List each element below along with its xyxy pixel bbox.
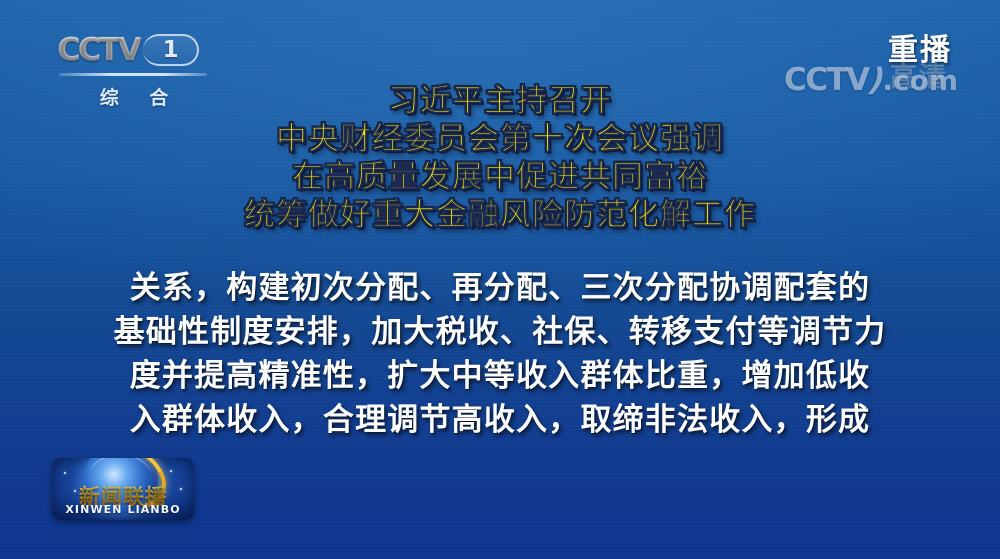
subtitle-line: 入群体收入，合理调节高收入，取缔非法收入，形成: [0, 398, 1000, 442]
subtitle-line: 度并提高精准性，扩大中等收入群体比重，增加低收: [0, 354, 1000, 398]
news-subtitle-text: 关系，构建初次分配、再分配、三次分配协调配套的 基础性制度安排，加大税收、社保、…: [0, 266, 1000, 442]
headline-line: 统筹做好重大金融风险防范化解工作: [0, 196, 1000, 234]
headline-line: 习近平主持召开: [0, 82, 1000, 120]
broadcast-screen: CCTV 1 综 合 重播 高清 CCTV).com 习近平主持召开 中央财经委…: [0, 0, 1000, 559]
news-headline: 习近平主持召开 中央财经委员会第十次会议强调 在高质量发展中促进共同富裕 统筹做…: [0, 82, 1000, 234]
subtitle-line: 基础性制度安排，加大税收、社保、转移支付等调节力: [0, 310, 1000, 354]
sparkle-icon: [170, 470, 172, 472]
cctv-logo-row: CCTV 1: [58, 33, 218, 67]
headline-line: 在高质量发展中促进共同富裕: [0, 158, 1000, 196]
program-name-en: XINWEN LIANBO: [52, 503, 194, 516]
sparkle-icon: [64, 472, 66, 474]
cctv-wordmark: CCTV: [57, 32, 139, 68]
channel-number-capsule: 1: [143, 34, 199, 66]
headline-line: 中央财经委员会第十次会议强调: [0, 120, 1000, 158]
cctv-logo-divider: [59, 73, 207, 76]
channel-number: 1: [163, 37, 179, 63]
subtitle-line: 关系，构建初次分配、再分配、三次分配协调配套的: [0, 266, 1000, 310]
xinwen-lianbo-logo: 新闻联播 XINWEN LIANBO: [52, 458, 194, 520]
